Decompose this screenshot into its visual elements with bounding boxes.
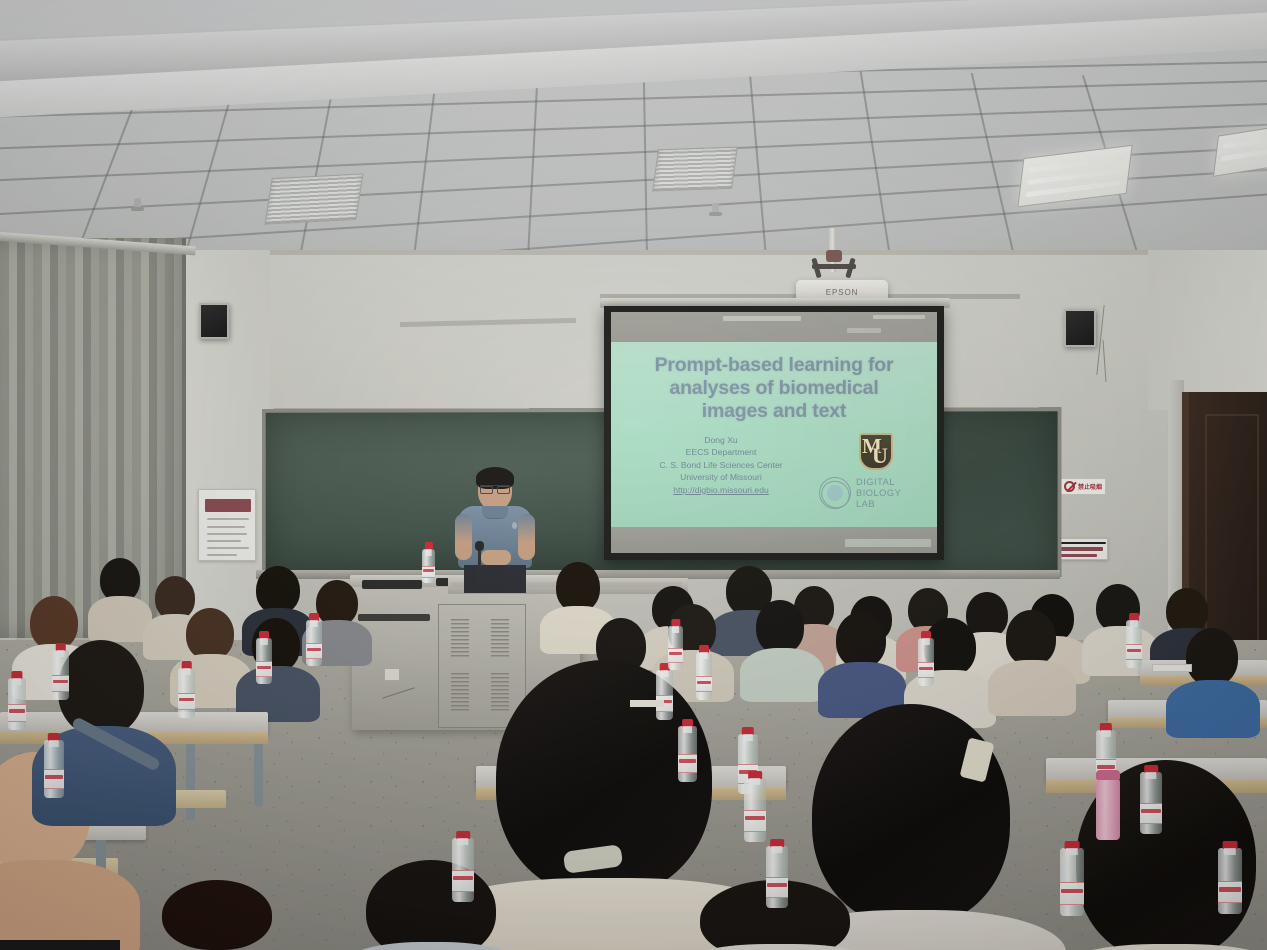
water-bottle — [452, 838, 474, 902]
wall-speaker-left — [199, 303, 229, 339]
slide-title-line-1: Prompt-based learning for — [623, 354, 925, 377]
water-bottle — [766, 846, 788, 908]
slide-window-chrome-bottom — [611, 527, 937, 553]
slide-title-line-3: images and text — [623, 400, 925, 423]
lecture-hall-photo: 禁止吸烟 EPSON Prompt-based learning for — [0, 0, 1267, 950]
water-bottle — [744, 778, 766, 842]
sprinkler-head — [134, 198, 141, 210]
ceiling-light-panel — [1017, 145, 1132, 208]
water-bottle — [696, 652, 712, 700]
water-bottle — [1060, 848, 1084, 916]
desk-leg — [254, 744, 263, 806]
water-bottle — [656, 670, 673, 720]
water-bottle — [44, 740, 64, 798]
taskbar-strip — [845, 539, 931, 547]
presenter-arm-right — [518, 514, 535, 560]
water-bottle-podium — [422, 549, 435, 583]
shirt-logo — [512, 522, 517, 529]
pink-thermos — [1096, 778, 1120, 840]
digital-biology-lab-logo: DIGITAL BIOLOGY LAB — [819, 476, 919, 510]
water-bottle — [306, 620, 322, 666]
desk-leg — [186, 744, 195, 820]
water-bottle — [52, 650, 69, 700]
water-bottle — [1126, 620, 1142, 668]
wall-notice-board-left — [198, 489, 256, 561]
slide-window-chrome-top — [611, 312, 937, 342]
no-smoking-icon — [1064, 481, 1075, 492]
projection-screen: Prompt-based learning for analyses of bi… — [604, 306, 944, 560]
presenter-collar — [482, 506, 508, 519]
wall-outlet — [384, 668, 400, 681]
hvac-vent — [652, 146, 738, 191]
dbl-line-1: DIGITAL — [856, 477, 919, 488]
podium-equipment — [362, 580, 422, 589]
projector-brand-label: EPSON — [826, 288, 859, 297]
water-bottle — [8, 678, 26, 730]
water-bottle — [256, 638, 272, 684]
podium-microphone — [478, 548, 481, 582]
atom-icon — [819, 477, 851, 509]
presenter-url[interactable]: http://digbio.missouri.edu — [623, 484, 819, 496]
slide-title: Prompt-based learning for analyses of bi… — [623, 354, 925, 423]
hvac-vent — [264, 173, 363, 224]
presenter-department: EECS Department — [623, 446, 819, 458]
no-smoking-sign: 禁止吸烟 — [1060, 478, 1106, 495]
dbl-line-2: BIOLOGY LAB — [856, 488, 919, 510]
red-notice-sign — [1056, 538, 1108, 560]
water-bottle — [1218, 848, 1242, 914]
water-bottle — [918, 638, 934, 686]
water-bottle — [678, 726, 697, 782]
mu-tiger-logo: M U — [855, 432, 897, 472]
notebook — [1152, 664, 1192, 672]
eyeglasses — [480, 485, 510, 491]
presenter-trousers — [464, 565, 526, 593]
slide-author-block: Dong Xu EECS Department C. S. Bond Life … — [623, 434, 819, 496]
water-bottle — [1140, 772, 1162, 834]
no-smoking-label: 禁止吸烟 — [1078, 482, 1102, 491]
notebook — [630, 700, 664, 707]
presentation-slide: Prompt-based learning for analyses of bi… — [611, 342, 937, 527]
wall-speaker-right — [1064, 309, 1096, 347]
slide-title-line-2: analyses of biomedical — [623, 377, 925, 400]
presenter-hands — [481, 550, 511, 565]
window-curtain — [0, 238, 186, 638]
sprinkler-head — [712, 203, 719, 215]
presenter-arm-left — [455, 514, 472, 560]
presenter-university: University of Missouri — [623, 471, 819, 483]
presenter-dong-xu — [456, 470, 534, 588]
water-bottle — [178, 668, 195, 718]
ceiling-light-panel — [1213, 123, 1267, 177]
equipment-cabinet[interactable] — [438, 604, 526, 728]
right-side-wall — [1148, 250, 1267, 410]
podium-keyboard-slot[interactable] — [358, 614, 430, 621]
water-bottle — [668, 626, 683, 670]
presenter-center: C. S. Bond Life Sciences Center — [623, 459, 819, 471]
presenter-name: Dong Xu — [623, 434, 819, 446]
